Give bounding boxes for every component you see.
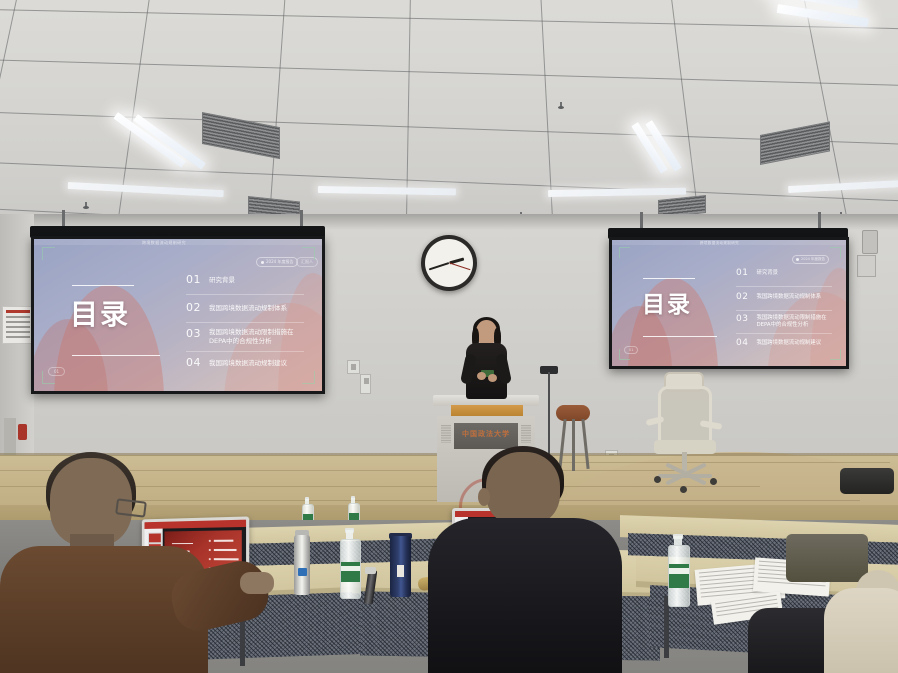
slide-toc-item: 02 我国跨境数据流动规制体系 xyxy=(736,292,821,302)
slide-header-text: 跨境数据流动规制研究 xyxy=(142,240,186,246)
thermos-flask xyxy=(294,535,310,595)
wall-speaker xyxy=(862,230,878,254)
slide-badge: 2024 年度报告 xyxy=(792,255,829,264)
bar-stool[interactable] xyxy=(556,405,590,475)
presenter xyxy=(462,320,510,398)
corner-bracket-icon xyxy=(619,247,630,258)
bag-secondary xyxy=(840,468,894,494)
chair-caster xyxy=(710,478,717,485)
thermos-label xyxy=(298,568,307,576)
slide-page-indicator: 01 xyxy=(624,346,638,354)
sprinkler-head xyxy=(83,202,89,210)
wall-notice-sign xyxy=(2,306,34,344)
audience-right xyxy=(824,588,898,673)
corner-bracket-icon xyxy=(830,349,841,360)
slide-header-text: 跨境数据流动规制研究 xyxy=(700,241,739,246)
wall-panel xyxy=(4,418,16,458)
podium-name-plate: 中国政法大学 xyxy=(454,423,518,449)
toc-text: 我国跨境数据流动限制措施在 DEPA中的合规性分析 xyxy=(209,327,294,345)
chair-backrest xyxy=(658,386,712,446)
toc-number: 04 xyxy=(186,356,201,369)
corner-bracket-icon xyxy=(302,371,315,384)
water-bottle-center xyxy=(340,528,359,598)
wall-outlet[interactable] xyxy=(347,360,360,374)
corner-bracket-icon xyxy=(830,247,841,258)
toc-text: 我国跨境数据流动限制措施在 DEPA中的合规性分析 xyxy=(756,314,826,329)
presenter-hand xyxy=(477,372,486,380)
wall-control-box[interactable] xyxy=(857,255,876,277)
audience-center-head xyxy=(486,452,560,526)
toc-text: 我国跨境数据流动规制建议 xyxy=(209,356,287,368)
page-label: 01 xyxy=(54,369,59,374)
wall-clock xyxy=(421,235,477,291)
wall-outlet[interactable] xyxy=(360,374,371,394)
ppt-ribbon xyxy=(145,520,247,529)
bottle-body xyxy=(668,545,690,607)
venue-logo-text: 中国政法大学 xyxy=(454,429,518,439)
slide-title: 目录 xyxy=(642,285,692,319)
slide-canvas-left: 跨境数据流动规制研究 2024 年度报告 汇报人 目录 01 研究背景 02 xyxy=(34,239,322,391)
toc-number: 03 xyxy=(736,314,748,324)
toc-number: 02 xyxy=(736,292,748,302)
audience-center-ear xyxy=(478,488,490,506)
badge-dot-icon xyxy=(796,258,799,261)
bottle-label-highlight xyxy=(341,566,360,571)
toc-text: 我国跨境数据流动规制建议 xyxy=(756,338,821,347)
bottle-neck xyxy=(346,530,353,539)
corner-bracket-icon xyxy=(302,247,315,260)
badge-dot-icon xyxy=(261,261,264,264)
toc-text: 我国跨境数据流动规制体系 xyxy=(756,292,821,301)
podium-vent xyxy=(521,425,531,443)
chair-caster xyxy=(654,476,661,483)
toc-text: 研究背景 xyxy=(756,268,778,277)
toc-number: 02 xyxy=(186,301,201,314)
corner-bracket-icon xyxy=(42,247,55,260)
slide-page-indicator: 01 xyxy=(48,367,65,376)
laser-pointer-head xyxy=(365,567,376,574)
right-projection-screen: 跨境数据流动规制研究 2024 年度报告 目录 01 研究背景 02 我国跨境数… xyxy=(609,237,849,369)
toc-text: 研究背景 xyxy=(209,273,235,285)
slide-toc-item: 03 我国跨境数据流动限制措施在 DEPA中的合规性分析 xyxy=(186,327,294,345)
slide-canvas-right: 跨境数据流动规制研究 2024 年度报告 目录 01 研究背景 02 我国跨境数… xyxy=(612,240,846,366)
slide-toc-item: 01 研究背景 xyxy=(186,273,235,286)
toc-text: 我国跨境数据流动规制体系 xyxy=(209,301,287,313)
ppt-slide-thumbnail[interactable] xyxy=(148,532,162,543)
slide-toc-item: 04 我国跨境数据流动规制建议 xyxy=(186,356,287,369)
badge-label: 2024 年度报告 xyxy=(801,257,825,262)
toc-number: 01 xyxy=(186,273,201,286)
audience-center-body xyxy=(428,518,622,673)
toc-number: 01 xyxy=(736,268,748,278)
laptop-bag xyxy=(786,534,868,582)
bottle-label xyxy=(341,562,360,582)
bottle-body xyxy=(340,539,361,599)
slide-toc-item: 02 我国跨境数据流动规制体系 xyxy=(186,301,287,314)
page-label: 01 xyxy=(629,348,633,352)
office-chair[interactable] xyxy=(644,372,744,498)
badge-label: 2024 年度报告 xyxy=(266,259,293,265)
slide-toc-item: 01 研究背景 xyxy=(736,268,778,278)
slide-toc-item: 03 我国跨境数据流动限制措施在 DEPA中的合规性分析 xyxy=(736,314,827,329)
toc-number: 04 xyxy=(736,338,748,348)
left-projection-screen: 跨境数据流动规制研究 2024 年度报告 汇报人 目录 01 研究背景 02 xyxy=(31,236,325,394)
bottle-label-highlight xyxy=(669,568,689,574)
bottle-label xyxy=(349,513,359,520)
sprinkler-head xyxy=(558,102,564,110)
presenter-hand xyxy=(488,374,497,382)
fire-alarm-icon xyxy=(18,424,27,440)
water-bottle-right xyxy=(668,534,688,606)
toc-number: 03 xyxy=(186,327,201,340)
podium-vent xyxy=(441,425,451,443)
tumbler-label xyxy=(397,565,404,577)
bottle-neck xyxy=(674,536,681,545)
audience-left-hand xyxy=(240,572,274,594)
slide-badge: 2024 年度报告 xyxy=(256,257,298,267)
chair-caster xyxy=(680,486,687,493)
slide-toc-item: 04 我国跨境数据流动规制建议 xyxy=(736,338,821,348)
suspended-ceiling xyxy=(0,0,898,250)
conference-room-photo: 跨境数据流动规制研究 2024 年度报告 汇报人 目录 01 研究背景 02 xyxy=(0,0,898,673)
slide-title: 目录 xyxy=(70,293,130,333)
